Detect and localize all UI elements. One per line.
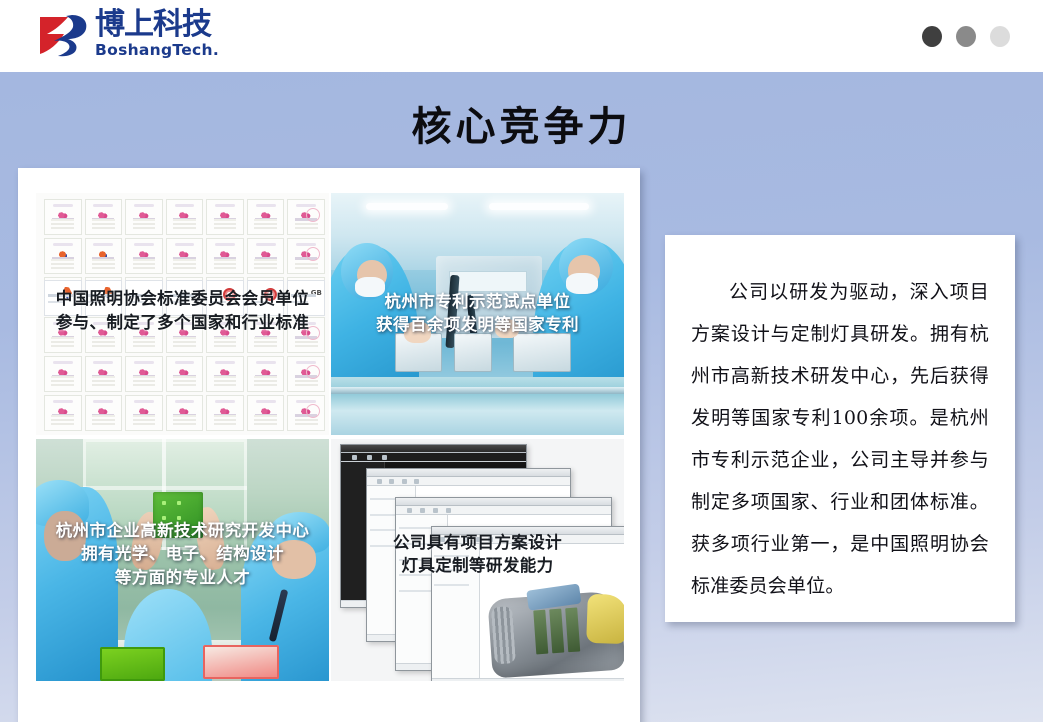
tile-caption: 公司具有项目方案设计 灯具定制等研发能力 [331, 531, 624, 578]
caption-line: 参与、制定了多个国家和行业标准 [36, 311, 329, 334]
brand-name-en: BoshangTech. [95, 42, 219, 60]
caption-line: 灯具定制等研发能力 [331, 554, 624, 577]
certificate-thumb [125, 395, 163, 431]
certificate-thumb [287, 395, 325, 431]
slide-pagination[interactable] [922, 26, 1010, 47]
parts-crate-red [203, 645, 279, 679]
page-header: 博上科技 BoshangTech. [0, 0, 1043, 72]
caption-line: 杭州市专利示范试点单位 [331, 290, 624, 313]
certificate-thumb [44, 395, 82, 431]
certificate-thumb [247, 199, 285, 235]
tile-caption: 杭州市企业高新技术研究开发中心 拥有光学、电子、结构设计 等方面的专业人才 [36, 519, 329, 589]
certificate-thumb [247, 238, 285, 274]
certificate-thumb [125, 356, 163, 392]
certificate-thumb [287, 238, 325, 274]
description-card: 公司以研发为驱动，深入项目方案设计与定制灯具研发。拥有杭州市高新技术研发中心，先… [665, 235, 1015, 622]
certificate-thumb [85, 199, 123, 235]
pagination-dot-2[interactable] [956, 26, 976, 47]
presentation-stage: 博上科技 BoshangTech. 核心竞争力 [0, 0, 1043, 722]
certificate-thumb [166, 238, 204, 274]
tile-cad-design-windows[interactable]: 公司具有项目方案设计 灯具定制等研发能力 [331, 439, 624, 681]
certificate-thumb [247, 395, 285, 431]
certificate-thumb [85, 395, 123, 431]
certificate-thumb [287, 199, 325, 235]
caption-line: 等方面的专业人才 [36, 566, 329, 589]
pagination-dot-1[interactable] [922, 26, 942, 47]
certificate-thumb [85, 356, 123, 392]
caption-line: 拥有光学、电子、结构设计 [36, 542, 329, 565]
certificate-thumb [125, 238, 163, 274]
certificate-thumb [44, 199, 82, 235]
certificate-thumb [44, 356, 82, 392]
boshang-logo-mark-icon [38, 13, 90, 57]
ceiling-lamp [366, 203, 448, 210]
photo-grid: GB 中国照明协会标准委员会会员单位 参与、制定了多个国家和行业标准 [36, 193, 622, 722]
company-description: 公司以研发为驱动，深入项目方案设计与定制灯具研发。拥有杭州市高新技术研发中心，先… [691, 271, 989, 607]
product-box [454, 333, 492, 372]
parts-crate-green [100, 647, 164, 681]
certificate-thumb [206, 356, 244, 392]
product-box [513, 333, 572, 372]
certificate-thumb [247, 356, 285, 392]
certificate-thumb [287, 356, 325, 392]
tile-caption: 杭州市专利示范试点单位 获得百余项发明等国家专利 [331, 290, 624, 337]
certificate-thumb [166, 199, 204, 235]
photo-collage-card: GB 中国照明协会标准委员会会员单位 参与、制定了多个国家和行业标准 [18, 168, 640, 722]
certificate-thumb [166, 356, 204, 392]
brand-logo[interactable]: 博上科技 BoshangTech. [38, 9, 243, 61]
certificate-thumb [85, 238, 123, 274]
caption-line: 中国照明协会标准委员会会员单位 [36, 287, 329, 310]
tile-rd-lab-pcb-inspection[interactable]: 杭州市企业高新技术研究开发中心 拥有光学、电子、结构设计 等方面的专业人才 [36, 439, 329, 681]
caption-line: 公司具有项目方案设计 [331, 531, 624, 554]
caption-line: 杭州市企业高新技术研究开发中心 [36, 519, 329, 542]
tile-certificates-wall[interactable]: GB 中国照明协会标准委员会会员单位 参与、制定了多个国家和行业标准 [36, 193, 329, 435]
certificate-thumb [125, 199, 163, 235]
brand-name-cn: 博上科技 [95, 10, 219, 41]
ceiling-lamp [489, 203, 589, 210]
certificate-thumb [206, 238, 244, 274]
slide-body: 核心竞争力 [0, 72, 1043, 722]
caption-line: 获得百余项发明等国家专利 [331, 313, 624, 336]
certificate-thumb [44, 238, 82, 274]
certificate-thumb [166, 395, 204, 431]
certificate-thumb [206, 199, 244, 235]
streetlight-exploded-model [487, 590, 624, 678]
page-title: 核心竞争力 [0, 94, 1043, 152]
pagination-dot-3[interactable] [990, 26, 1010, 47]
tile-cleanroom-production-line[interactable]: 杭州市专利示范试点单位 获得百余项发明等国家专利 [331, 193, 624, 435]
tile-caption: 中国照明协会标准委员会会员单位 参与、制定了多个国家和行业标准 [36, 287, 329, 334]
conveyor-belt [331, 377, 624, 435]
brand-text: 博上科技 BoshangTech. [95, 10, 219, 59]
certificate-thumb [206, 395, 244, 431]
